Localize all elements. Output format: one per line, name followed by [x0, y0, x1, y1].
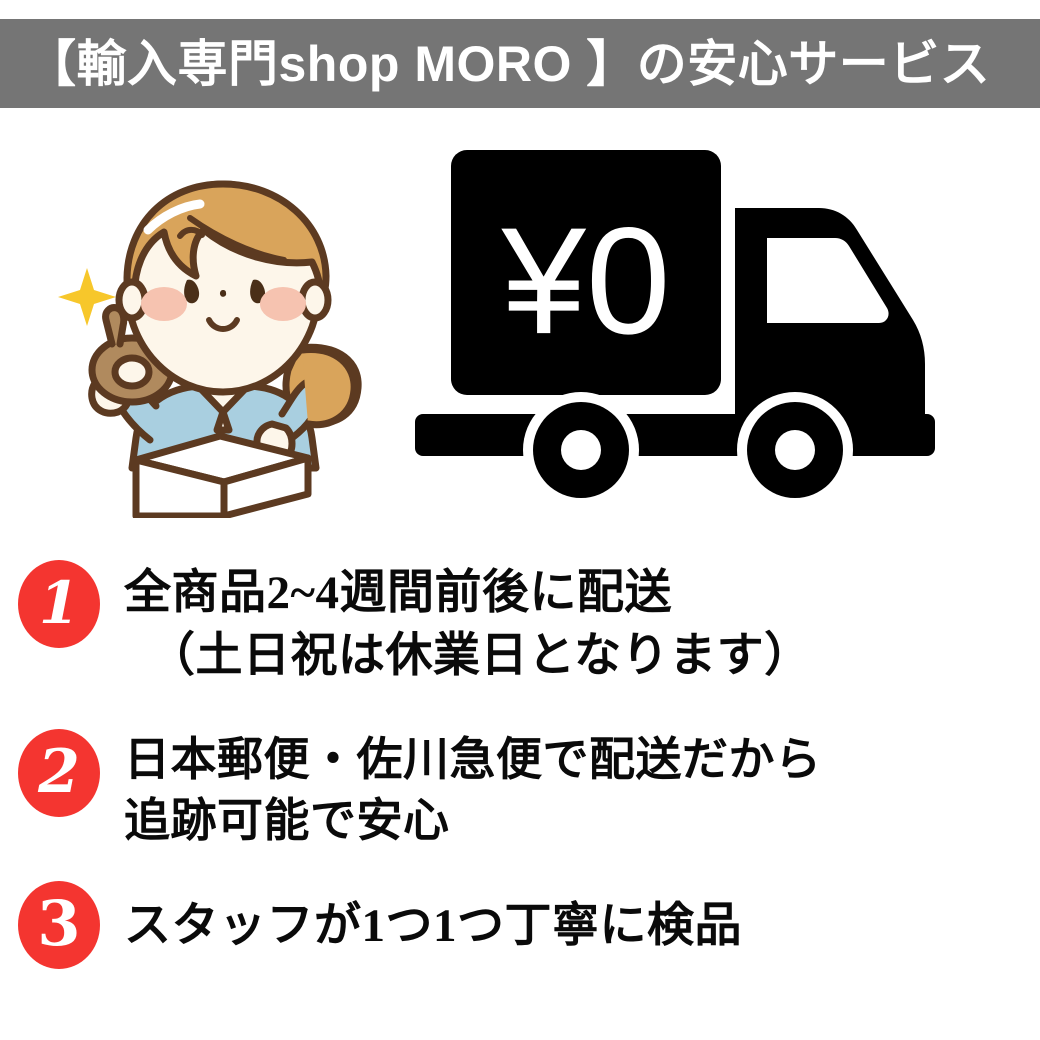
- badge-number: 3: [18, 881, 100, 969]
- list-item: 2 日本郵便・佐川急便で配送だから 追跡可能で安心: [0, 729, 1040, 851]
- page-title: 【輸入専門shop MORO 】の安心サービス: [0, 39, 990, 89]
- free-shipping-price-label: ¥0: [500, 196, 670, 366]
- list-item: 1 全商品2~4週間前後に配送 （土日祝は休業日となります）: [0, 560, 1040, 687]
- staff-inspecting-package-illustration: [40, 138, 400, 518]
- list-item-text: スタッフが1つ1つ丁寧に検品: [124, 881, 1040, 958]
- list-number-badge: 1: [18, 560, 100, 648]
- header-banner: 【輸入専門shop MORO 】の安心サービス: [0, 19, 1040, 108]
- promo-banner-page: 【輸入専門shop MORO 】の安心サービス: [0, 0, 1040, 1040]
- free-shipping-truck-illustration: ¥0: [415, 128, 1015, 498]
- list-item-text: 日本郵便・佐川急便で配送だから 追跡可能で安心: [124, 729, 1040, 851]
- illustration-row: ¥0: [0, 108, 1040, 528]
- list-number-badge: 3: [18, 881, 100, 969]
- list-number-badge: 2: [18, 729, 100, 817]
- list-item: 3 スタッフが1つ1つ丁寧に検品: [0, 881, 1040, 969]
- list-item-text: 全商品2~4週間前後に配送 （土日祝は休業日となります）: [124, 560, 1040, 687]
- badge-number: 1: [18, 560, 100, 648]
- badge-number: 2: [18, 729, 100, 817]
- service-points-list: 1 全商品2~4週間前後に配送 （土日祝は休業日となります） 2 日本郵便・佐川…: [0, 540, 1040, 969]
